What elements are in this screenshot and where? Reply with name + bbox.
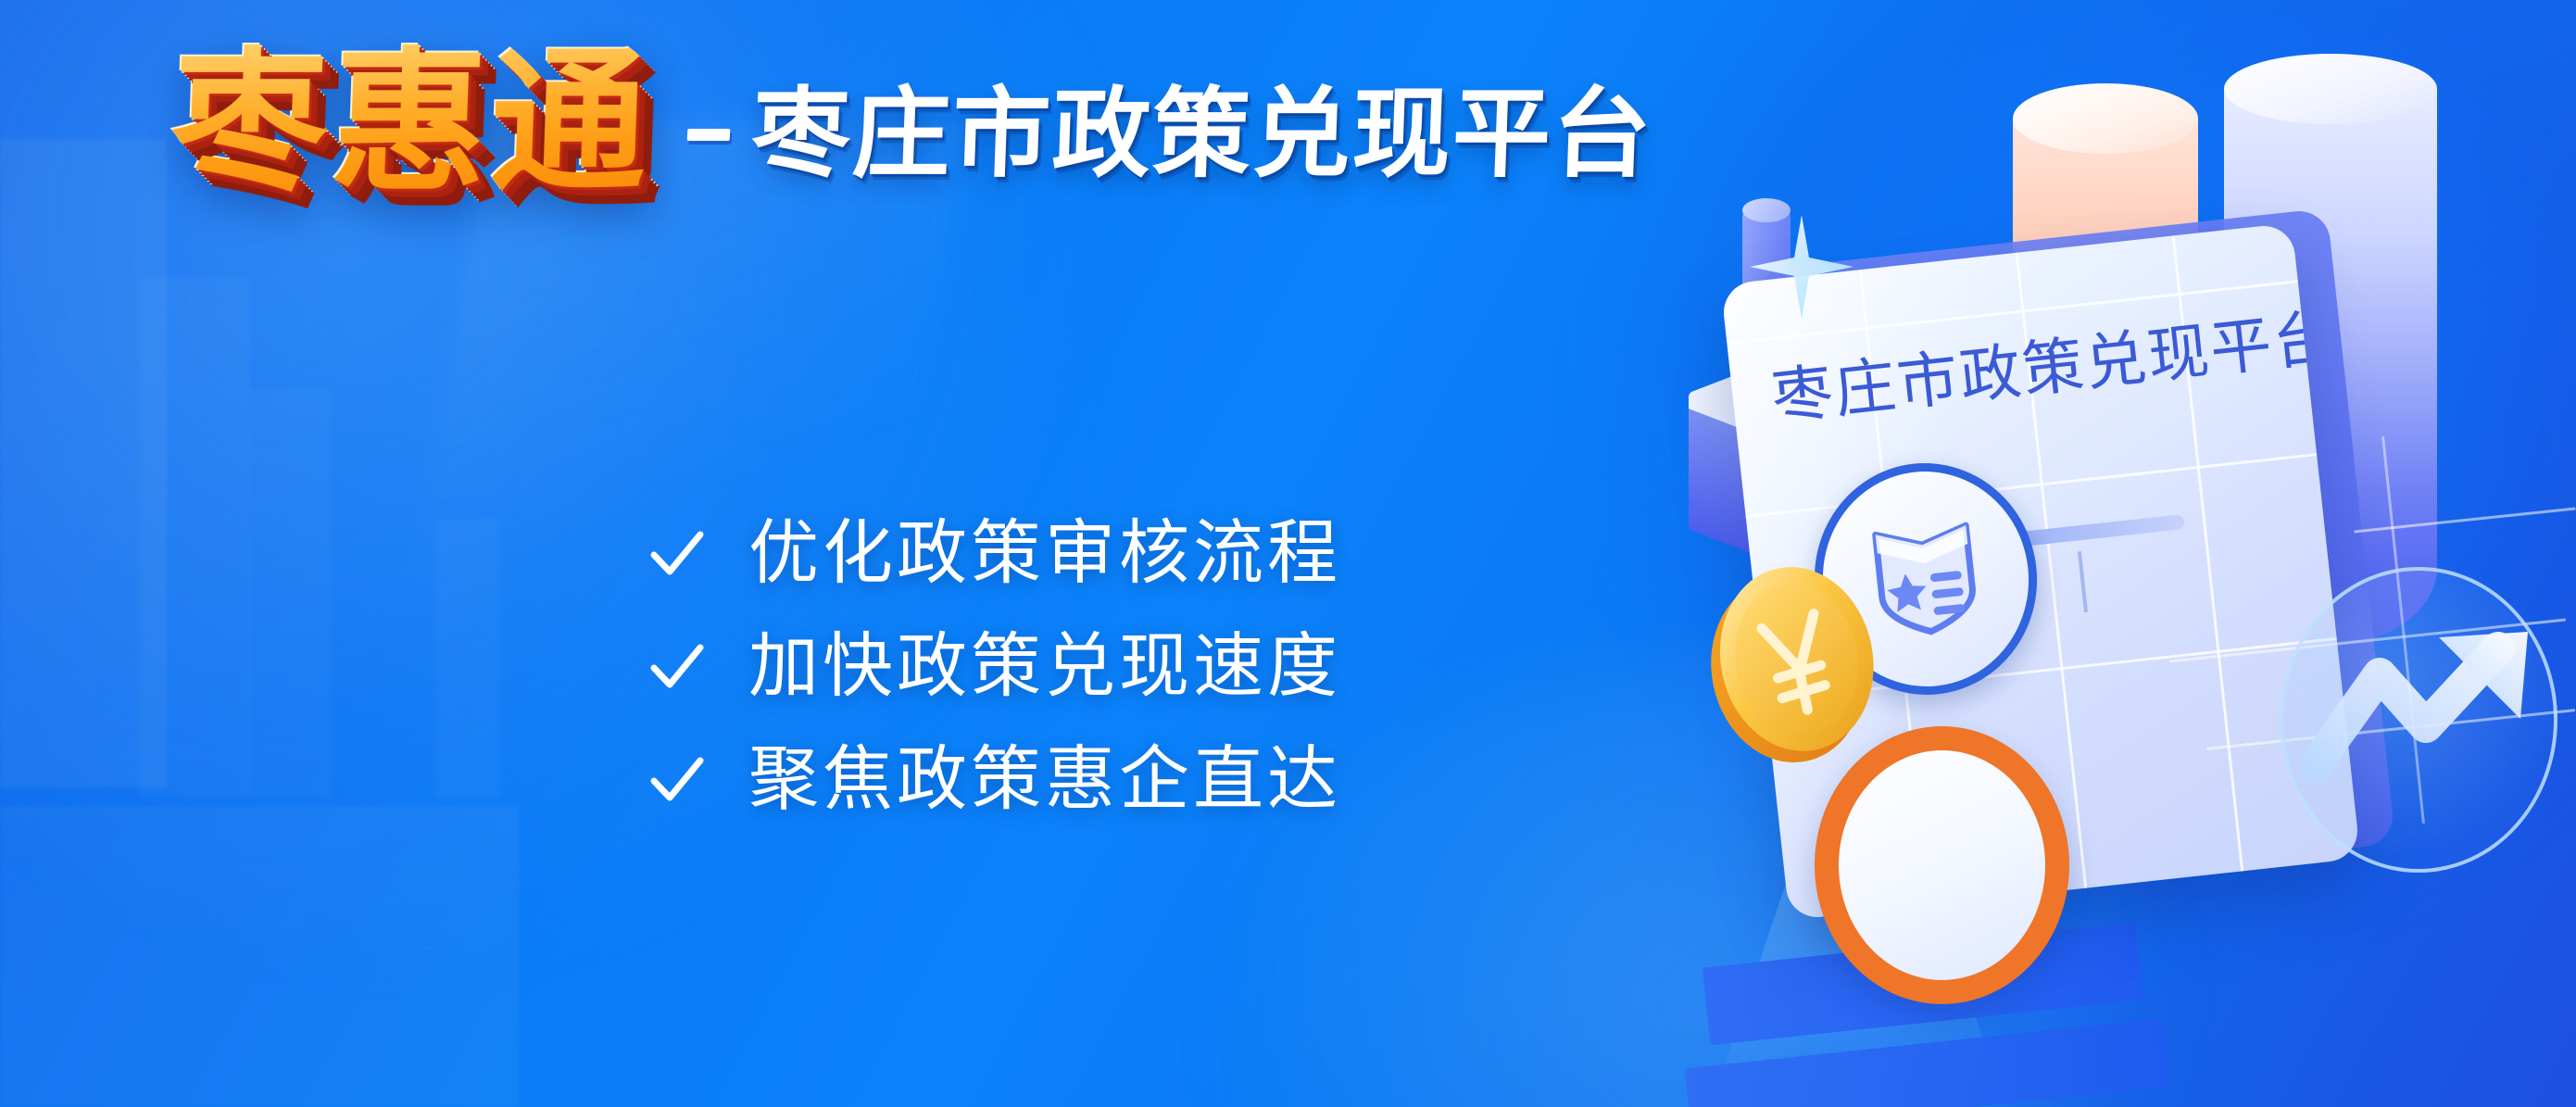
- feature-item: 加快政策兑现速度: [648, 632, 1341, 702]
- dash-separator-icon: [687, 129, 731, 141]
- feature-item: 优化政策审核流程: [648, 519, 1341, 589]
- sparkle-icon: [1746, 211, 1857, 322]
- subtitle-group: 枣庄市政策兑现平台: [687, 85, 1652, 200]
- feature-list: 优化政策审核流程 加快政策兑现速度 聚焦政策惠企直达: [648, 519, 1341, 815]
- growth-arrow-icon: [2280, 567, 2557, 873]
- background-building-silhouette: [248, 389, 332, 797]
- feature-label: 加快政策兑现速度: [748, 632, 1341, 702]
- promo-banner: 枣惠通 枣庄市政策兑现平台 优化政策审核流程 加快政策兑现速度: [0, 0, 2576, 1107]
- banner-subtitle: 枣庄市政策兑现平台: [750, 85, 1654, 183]
- background-building-silhouette: [139, 278, 250, 797]
- feature-label: 聚焦政策惠企直达: [748, 745, 1341, 815]
- banner-illustration: 枣庄市政策兑现平台: [1650, 0, 2576, 1107]
- background-building-silhouette: [0, 806, 519, 1107]
- orange-ring-icon: [1815, 726, 2069, 1004]
- check-icon: [648, 525, 706, 583]
- banner-headline: 枣惠通 枣庄市政策兑现平台: [172, 44, 1652, 200]
- feature-label: 优化政策审核流程: [748, 519, 1341, 589]
- card-tick-mark: [2078, 551, 2088, 612]
- cylinder-cap: [2224, 54, 2437, 124]
- card-divider: [2017, 514, 2185, 547]
- brand-title: 枣惠通: [170, 44, 653, 200]
- feature-item: 聚焦政策惠企直达: [648, 745, 1341, 815]
- check-icon: [648, 638, 706, 696]
- cylinder-cap: [2013, 83, 2198, 154]
- check-icon: [648, 751, 706, 809]
